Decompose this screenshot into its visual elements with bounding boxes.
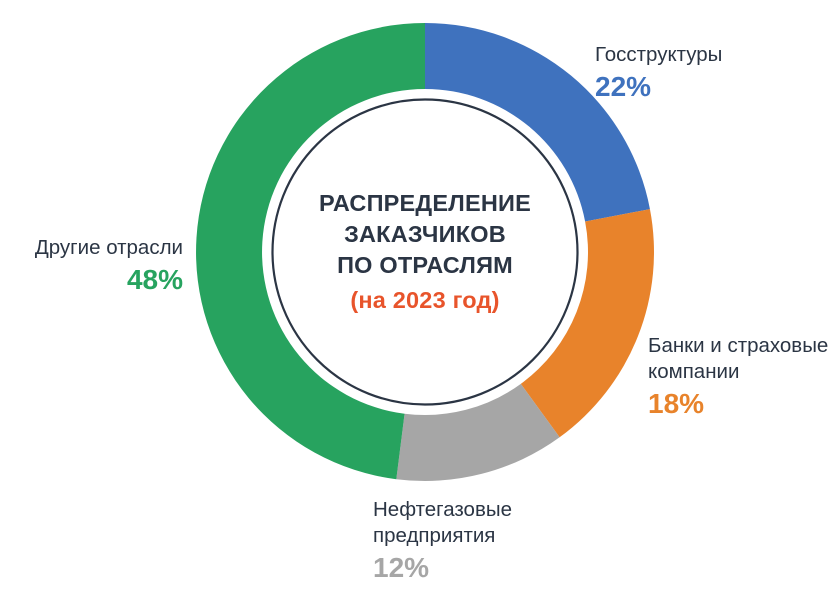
slice-other[interactable] (196, 23, 425, 479)
callout-other-label: Другие отрасли (20, 235, 183, 261)
callout-gov: Госструктуры 22% (595, 42, 722, 103)
inner-ring-outline (273, 100, 578, 405)
donut-chart: РАСПРЕДЕЛЕНИЕ ЗАКАЗЧИКОВ ПО ОТРАСЛЯМ (на… (0, 0, 840, 593)
callout-banks-value: 18% (648, 387, 828, 420)
callout-gov-label: Госструктуры (595, 42, 722, 68)
callout-oilgas-label-line-1: Нефтегазовые (373, 497, 512, 523)
callout-other-value: 48% (20, 263, 183, 296)
callout-banks-label-line-2: компании (648, 359, 828, 385)
callout-banks: Банки и страховые компании 18% (648, 333, 828, 420)
callout-other: Другие отрасли 48% (20, 235, 183, 296)
slice-banks[interactable] (521, 209, 654, 437)
callout-oilgas-value: 12% (373, 551, 512, 584)
callout-oilgas-label-line-2: предприятия (373, 523, 512, 549)
callout-gov-value: 22% (595, 70, 722, 103)
callout-banks-label-line-1: Банки и страховые (648, 333, 828, 359)
callout-oilgas: Нефтегазовые предприятия 12% (373, 497, 512, 584)
